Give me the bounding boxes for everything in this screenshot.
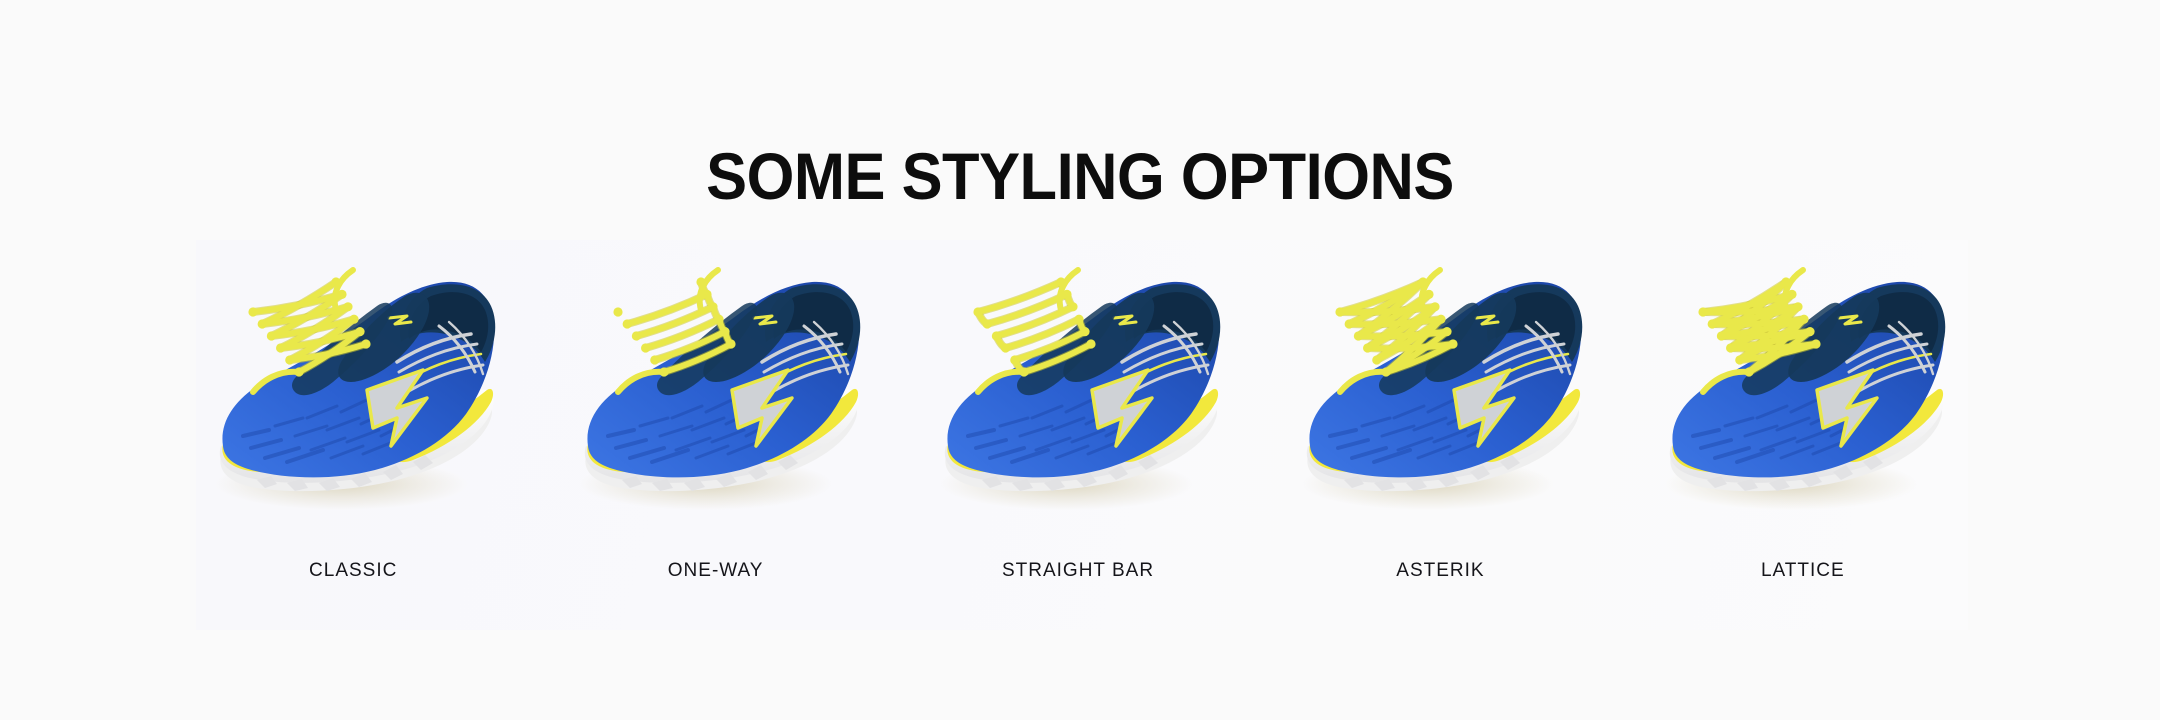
shoe-label-straight-bar: STRAIGHT BAR	[901, 560, 1255, 582]
shoe-row: CLASSICONE-WAYSTRAIGHT BARASTERIKLATTICE	[196, 240, 1968, 630]
shoe-label-one-way: ONE-WAY	[538, 560, 892, 582]
shoe-card-criss-cross[interactable]: CLASSIC	[196, 240, 550, 630]
shoe-card-one-way[interactable]: ONE-WAY	[550, 240, 904, 630]
shoe-image-straight-bar	[916, 222, 1246, 522]
page-stage: SOME STYLING OPTIONS CLASSICONE-WAYSTRAI…	[0, 0, 2160, 720]
styling-options-gallery: CLASSICONE-WAYSTRAIGHT BARASTERIKLATTICE	[196, 240, 1968, 630]
shoe-image-one-way	[556, 222, 886, 522]
shoe-card-lattice[interactable]: LATTICE	[1614, 240, 1968, 630]
shoe-label-lattice: LATTICE	[1626, 560, 1980, 582]
shoe-image-asterik	[1278, 222, 1608, 522]
shoe-label-criss-cross: CLASSIC	[176, 560, 530, 582]
shoe-card-asterik[interactable]: ASTERIK	[1259, 240, 1613, 630]
page-title: SOME STYLING OPTIONS	[76, 140, 2085, 212]
shoe-card-straight-bar[interactable]: STRAIGHT BAR	[905, 240, 1259, 630]
shoe-image-criss-cross	[191, 222, 521, 522]
shoe-image-lattice	[1641, 222, 1971, 522]
shoe-label-asterik: ASTERIK	[1263, 560, 1617, 582]
